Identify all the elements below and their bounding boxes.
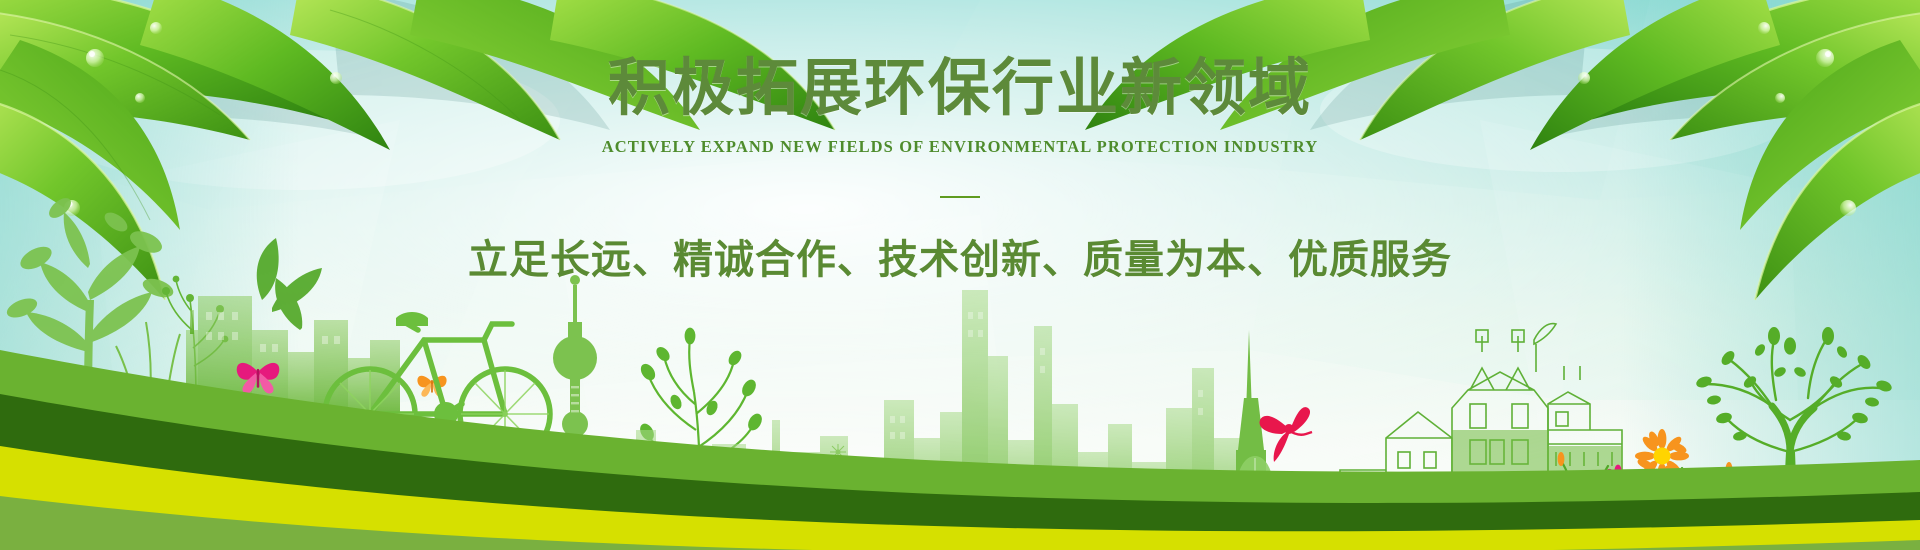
eco-banner: 积极拓展环保行业新领域 ACTIVELY EXPAND NEW FIELDS O… (0, 0, 1920, 550)
wave-ribbon-bands (0, 0, 1920, 550)
